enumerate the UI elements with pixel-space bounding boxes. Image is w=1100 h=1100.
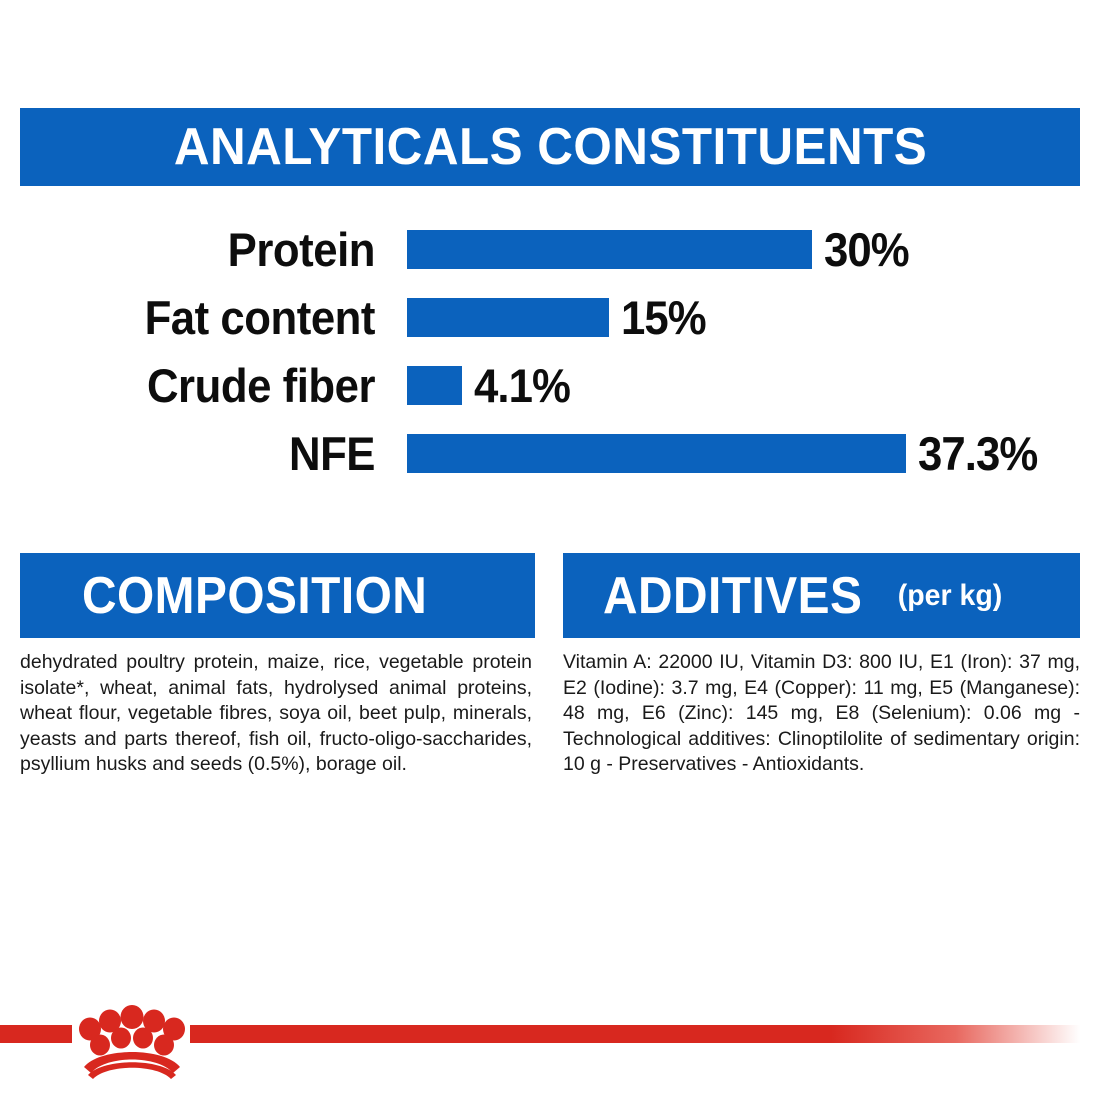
- bar-label-crude-fiber: Crude fiber: [26, 358, 375, 413]
- bar-fill-nfe: [407, 434, 906, 473]
- red-stripe-left: [0, 1025, 72, 1043]
- composition-header: COMPOSITION: [20, 553, 535, 638]
- analyticals-constituents-header: ANALYTICALS CONSTITUENTS: [20, 108, 1080, 186]
- additives-header: ADDITIVES (per kg): [563, 553, 1080, 638]
- composition-body-text: dehydrated poultry protein, maize, rice,…: [20, 650, 532, 778]
- additives-body-text: Vitamin A: 22000 IU, Vitamin D3: 800 IU,…: [563, 650, 1080, 778]
- table-row: Protein 30%: [0, 218, 1100, 280]
- bar-fill-crude-fiber: [407, 366, 462, 405]
- product-label-panel: ANALYTICALS CONSTITUENTS Protein 30% Fat…: [0, 0, 1100, 1100]
- bar-value-nfe: 37.3%: [918, 426, 1037, 481]
- additives-title: ADDITIVES: [603, 566, 862, 626]
- bar-track-protein: 30%: [407, 218, 915, 280]
- table-row: Fat content 15%: [0, 286, 1100, 348]
- footer: [0, 985, 1100, 1100]
- composition-title: COMPOSITION: [82, 566, 427, 626]
- bar-label-protein: Protein: [26, 222, 375, 277]
- bar-track-nfe: 37.3%: [407, 422, 1046, 484]
- bar-fill-protein: [407, 230, 812, 269]
- bar-track-fat-content: 15%: [407, 286, 712, 348]
- red-stripe-right: [190, 1025, 1080, 1043]
- bar-track-crude-fiber: 4.1%: [407, 354, 577, 416]
- bar-label-fat-content: Fat content: [26, 290, 375, 345]
- analyticals-bar-chart: Protein 30% Fat content 15% Crude fiber …: [0, 218, 1100, 498]
- bar-value-crude-fiber: 4.1%: [474, 358, 570, 413]
- bar-value-protein: 30%: [824, 222, 909, 277]
- bar-label-nfe: NFE: [26, 426, 375, 481]
- additives-subtitle: (per kg): [898, 579, 1003, 613]
- table-row: NFE 37.3%: [0, 422, 1100, 484]
- table-row: Crude fiber 4.1%: [0, 354, 1100, 416]
- bar-fill-fat-content: [407, 298, 609, 337]
- royal-canin-crown-icon: [72, 993, 192, 1079]
- bar-value-fat-content: 15%: [621, 290, 706, 345]
- analyticals-constituents-title: ANALYTICALS CONSTITUENTS: [173, 117, 926, 177]
